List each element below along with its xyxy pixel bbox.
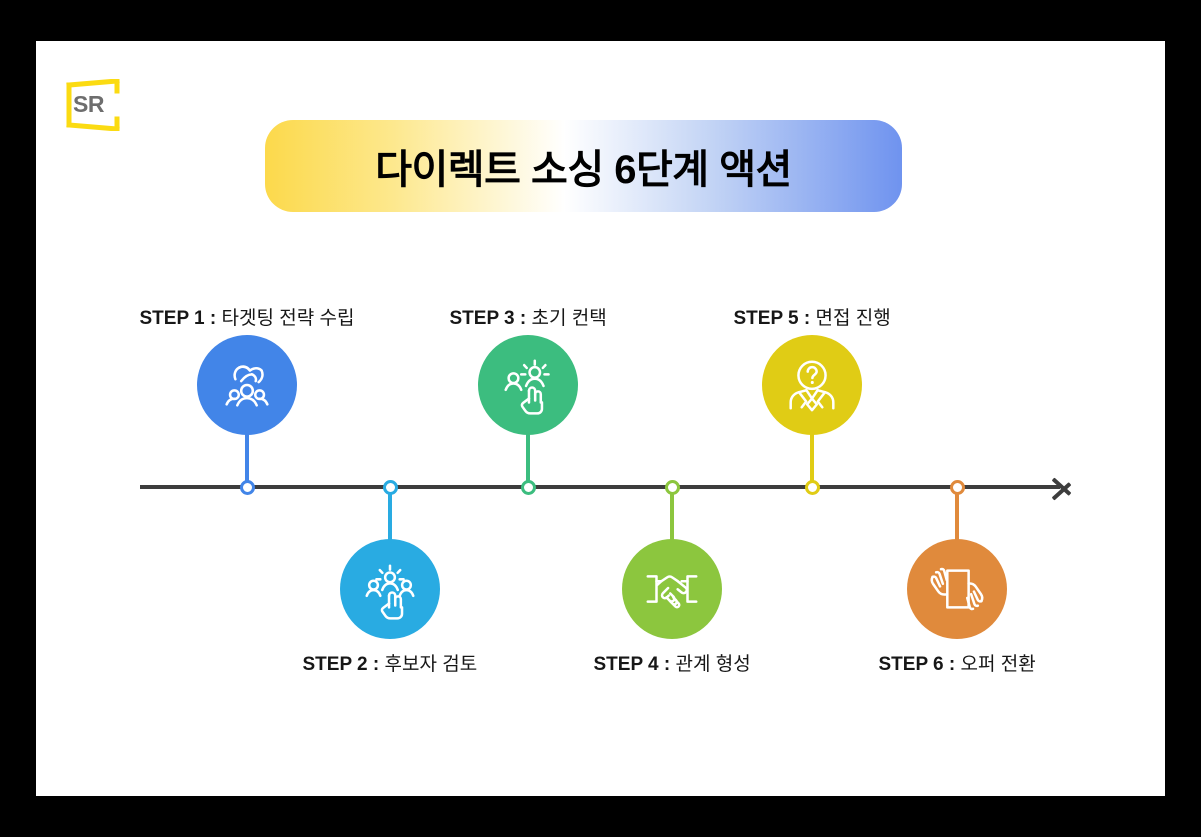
timeline-dot[interactable] xyxy=(950,480,965,495)
three-people-pointing-hand-icon[interactable] xyxy=(340,539,440,639)
step-number: STEP 4 : xyxy=(594,654,676,675)
step-title: 면접 진행 xyxy=(816,308,891,329)
timeline-step-label-4: STEP 4 : 관계 형성 xyxy=(594,649,751,676)
slide-card: SR 다이렉트 소싱 6단계 액션 STEP 1 : 타겟팅 전략 수립 xyxy=(36,41,1165,796)
handshake-icon[interactable] xyxy=(622,539,722,639)
timeline-step-label-6: STEP 6 : 오퍼 전환 xyxy=(879,649,1036,676)
step-title: 관계 형성 xyxy=(676,654,751,675)
timeline-dot[interactable] xyxy=(383,480,398,495)
person-with-question-mark-icon[interactable] xyxy=(762,335,862,435)
step-number: STEP 2 : xyxy=(303,654,385,675)
timeline-step-label-1: STEP 1 : 타겟팅 전략 수립 xyxy=(140,303,355,330)
timeline-stem xyxy=(388,487,392,547)
hand-picking-person-from-group-icon[interactable] xyxy=(197,335,297,435)
step-title: 오퍼 전환 xyxy=(961,654,1036,675)
hands-exchanging-document-icon[interactable] xyxy=(907,539,1007,639)
timeline-dot[interactable] xyxy=(240,480,255,495)
timeline-stem xyxy=(955,487,959,547)
timeline-stem xyxy=(670,487,674,547)
timeline: STEP 1 : 타겟팅 전략 수립 STEP 2 : 후보자 검토 S xyxy=(36,41,1165,796)
timeline-arrow-icon xyxy=(1053,470,1075,504)
timeline-dot[interactable] xyxy=(805,480,820,495)
step-title: 후보자 검토 xyxy=(385,654,478,675)
timeline-step-label-5: STEP 5 : 면접 진행 xyxy=(734,303,891,330)
step-number: STEP 3 : xyxy=(450,308,532,329)
two-people-pointing-hand-icon[interactable] xyxy=(478,335,578,435)
timeline-step-label-3: STEP 3 : 초기 컨택 xyxy=(450,303,607,330)
timeline-dot[interactable] xyxy=(665,480,680,495)
timeline-step-label-2: STEP 2 : 후보자 검토 xyxy=(303,649,478,676)
step-title: 타겟팅 전략 수립 xyxy=(222,308,355,329)
step-number: STEP 1 : xyxy=(140,308,222,329)
step-number: STEP 6 : xyxy=(879,654,961,675)
timeline-axis xyxy=(140,485,1060,489)
step-number: STEP 5 : xyxy=(734,308,816,329)
step-title: 초기 컨택 xyxy=(532,308,607,329)
timeline-dot[interactable] xyxy=(521,480,536,495)
